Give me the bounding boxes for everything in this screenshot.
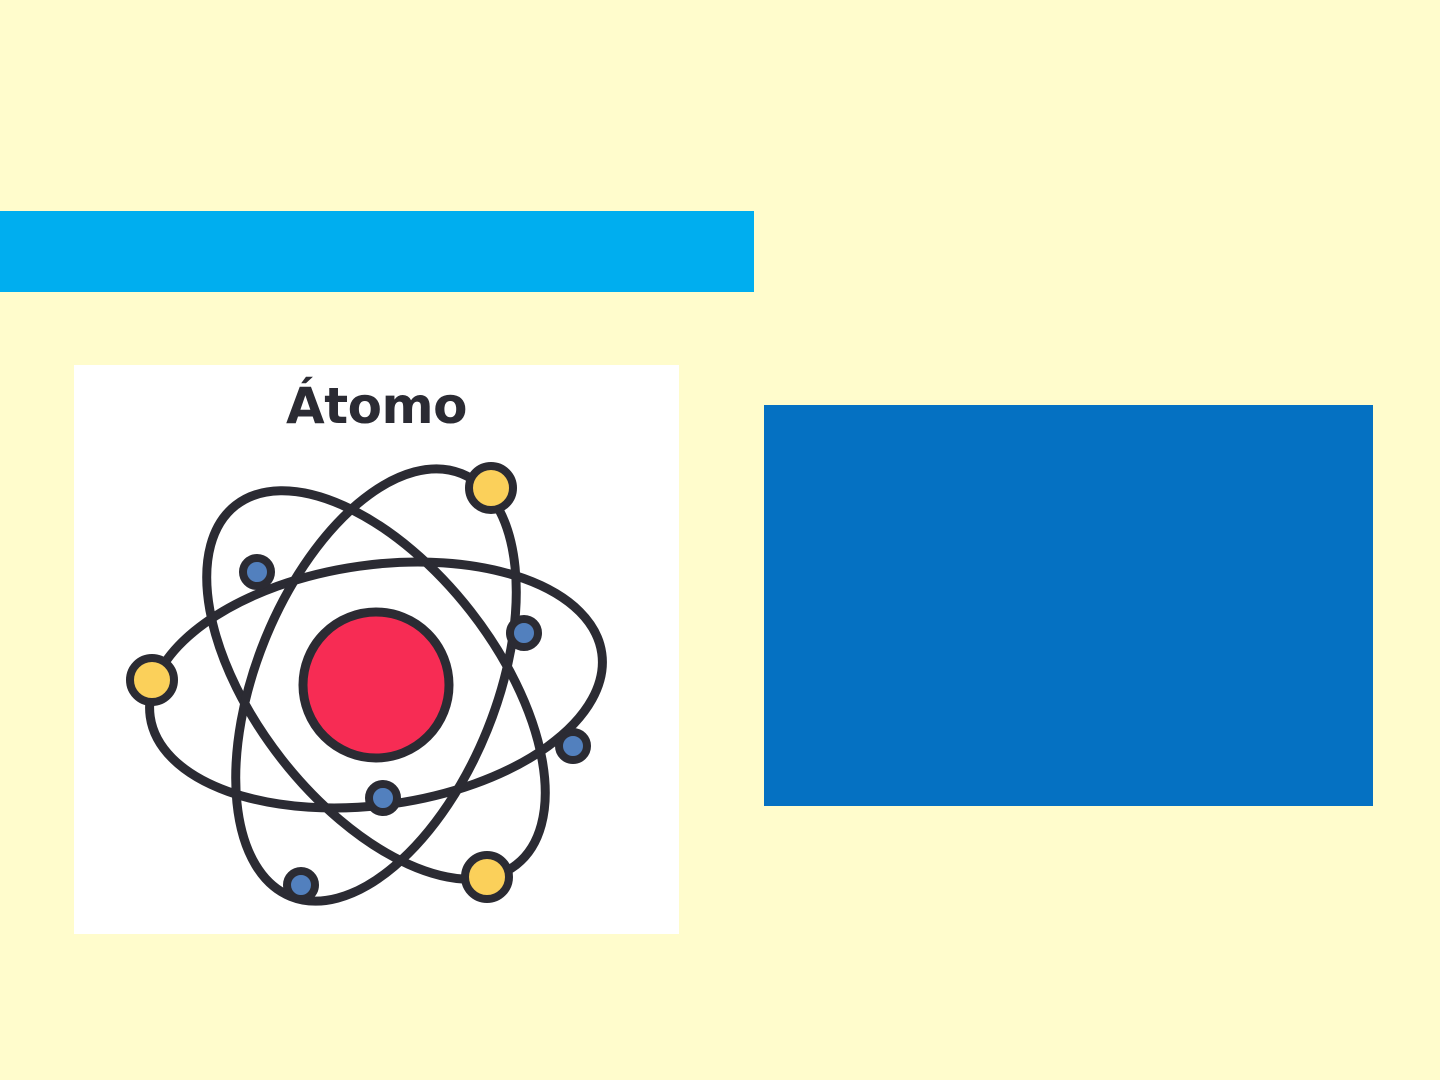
atom-picture[interactable]: Átomo <box>74 365 679 934</box>
title-placeholder[interactable] <box>0 211 754 292</box>
electron-yellow-left <box>130 658 174 702</box>
electron-blue-right-upper <box>510 619 538 647</box>
electron-yellow-top-right <box>469 466 513 510</box>
atom-nucleus <box>303 612 449 758</box>
electron-blue-right-lower <box>559 732 587 760</box>
content-placeholder[interactable] <box>764 405 1373 806</box>
electron-blue-upper-left <box>243 558 271 586</box>
electron-yellow-bottom-right <box>465 855 509 899</box>
slide-canvas: Átomo <box>0 0 1440 1080</box>
atom-diagram <box>74 365 679 934</box>
electron-blue-bottom-center <box>369 784 397 812</box>
electron-blue-bottom-left <box>287 871 315 899</box>
